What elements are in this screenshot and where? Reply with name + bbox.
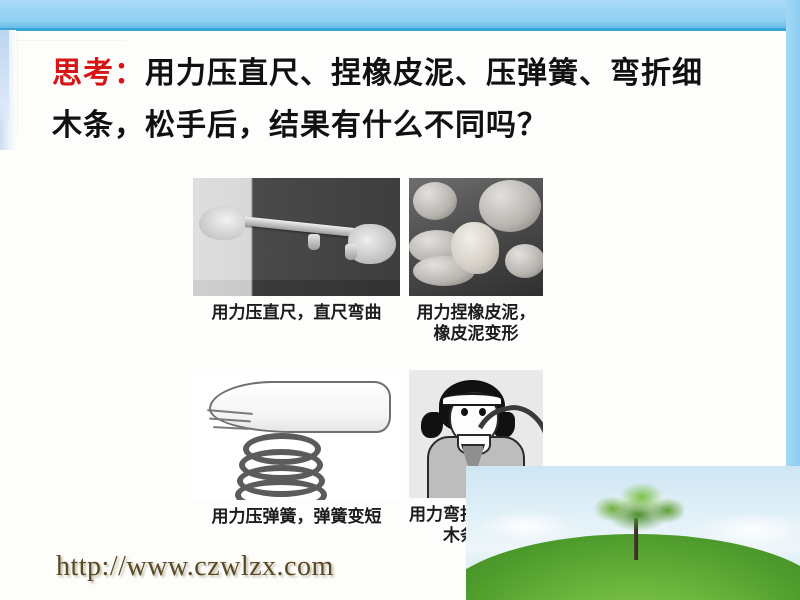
left-hand: [199, 206, 245, 240]
hanging-weight-1: [308, 234, 320, 250]
eye-right: [479, 408, 486, 416]
figure-clay-squeeze: 用力捏橡皮泥， 橡皮泥变形: [409, 178, 543, 344]
finger-upper-left: [413, 182, 457, 220]
tree-crown: [592, 478, 684, 534]
page-title: 思考：用力压直尺、捏橡皮泥、压弹簧、弯折细 木条，松手后，结果有什么不同吗？: [52, 48, 752, 152]
title-line-2: 木条，松手后，结果有什么不同吗？: [52, 109, 548, 142]
slide-canvas: 思考：用力压直尺、捏橡皮泥、压弹簧、弯折细 木条，松手后，结果有什么不同吗？ 用…: [0, 0, 800, 600]
top-decorative-band: [0, 0, 800, 30]
figure-ruler-press: 用力压直尺，直尺弯曲: [193, 178, 400, 323]
ruler-photo-floor: [193, 280, 400, 296]
left-decorative-edge: [0, 30, 9, 125]
tree-on-hill-photo: [466, 466, 800, 600]
thumb-upper: [479, 180, 541, 232]
eye-left: [461, 408, 468, 416]
figure-spring-press: 用力压弹簧，弹簧变短: [193, 375, 400, 527]
title-keyword: 思考：: [52, 57, 145, 90]
figure-caption: 用力捏橡皮泥， 橡皮泥变形: [409, 302, 543, 344]
photo-ruler-press: [193, 178, 400, 296]
hair-band: [443, 393, 501, 406]
clay-lump: [451, 222, 499, 274]
inner-border-horizontal: [16, 40, 126, 41]
figure-caption: 用力压弹簧，弹簧变短: [193, 506, 400, 527]
photo-clay-squeeze: [409, 178, 543, 296]
site-url[interactable]: http://www.czwlzx.com: [56, 551, 334, 583]
top-accent-line: [0, 28, 800, 31]
finger-right: [505, 244, 543, 278]
hanging-weight-2: [345, 244, 357, 260]
drawing-spring-press: [193, 375, 400, 500]
hand-and-arm: [209, 381, 391, 433]
inner-border-vertical: [17, 34, 18, 134]
title-line-1: 用力压直尺、捏橡皮泥、压弹簧、弯折细: [145, 57, 703, 90]
figure-caption: 用力压直尺，直尺弯曲: [193, 302, 400, 323]
